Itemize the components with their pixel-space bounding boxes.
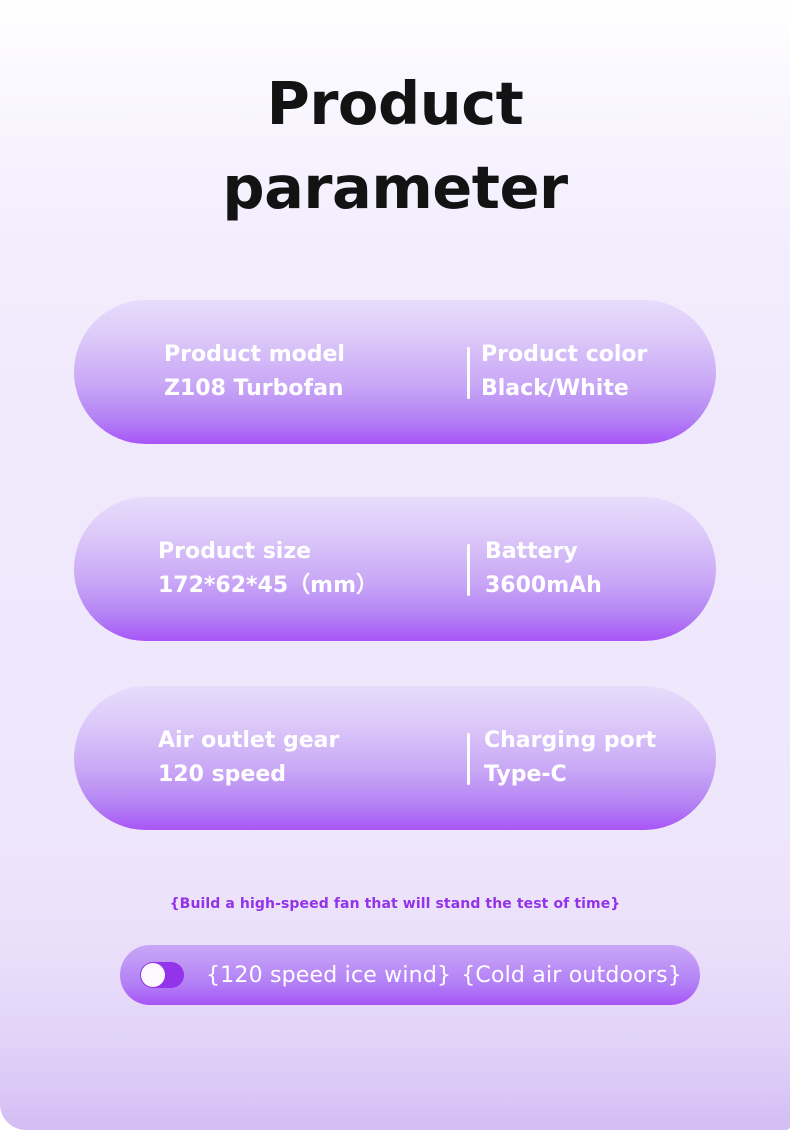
feature-text-primary: {120 speed ice wind} [206,963,451,988]
feature-pill-text: {120 speed ice wind}{Cold air outdoors} [206,963,682,988]
tagline: {Build a high-speed fan that will stand … [0,896,790,912]
spec-value: Z108 Turbofan [164,372,394,406]
spec-label: Battery [485,535,716,569]
spec-cell-air-outlet-gear: Air outlet gear 120 speed [74,724,394,792]
spec-label: Product color [481,338,716,372]
spec-card-product-model: Product model Z108 Turbofan Product colo… [74,300,716,444]
spec-label: Product size [158,535,394,569]
card-divider [467,544,470,596]
toggle-knob-icon [141,963,165,987]
product-parameter-page: Product parameter Product model Z108 Tur… [0,0,790,1130]
feature-text-secondary: {Cold air outdoors} [461,963,682,988]
feature-pill[interactable]: {120 speed ice wind}{Cold air outdoors} [120,945,700,1005]
spec-cell-product-model: Product model Z108 Turbofan [74,338,394,406]
spec-card-product-size: Product size 172*62*45（mm） Battery 3600m… [74,497,716,641]
card-divider [467,733,470,785]
spec-label: Charging port [484,724,716,758]
spec-cell-product-color: Product color Black/White [394,338,716,406]
toggle-switch[interactable] [140,962,184,988]
spec-value: 3600mAh [485,569,716,603]
spec-value: Type-C [484,758,716,792]
spec-label: Air outlet gear [158,724,394,758]
spec-label: Product model [164,338,394,372]
spec-value: 120 speed [158,758,394,792]
spec-cell-battery: Battery 3600mAh [394,535,716,603]
spec-cell-charging-port: Charging port Type-C [394,724,716,792]
spec-value: Black/White [481,372,716,406]
page-title-line-1: Product [0,62,790,146]
spec-card-air-outlet-gear: Air outlet gear 120 speed Charging port … [74,686,716,830]
page-title-line-2: parameter [0,146,790,230]
spec-value: 172*62*45（mm） [158,569,394,603]
card-divider [467,347,470,399]
spec-cell-product-size: Product size 172*62*45（mm） [74,535,394,603]
page-title: Product parameter [0,62,790,230]
